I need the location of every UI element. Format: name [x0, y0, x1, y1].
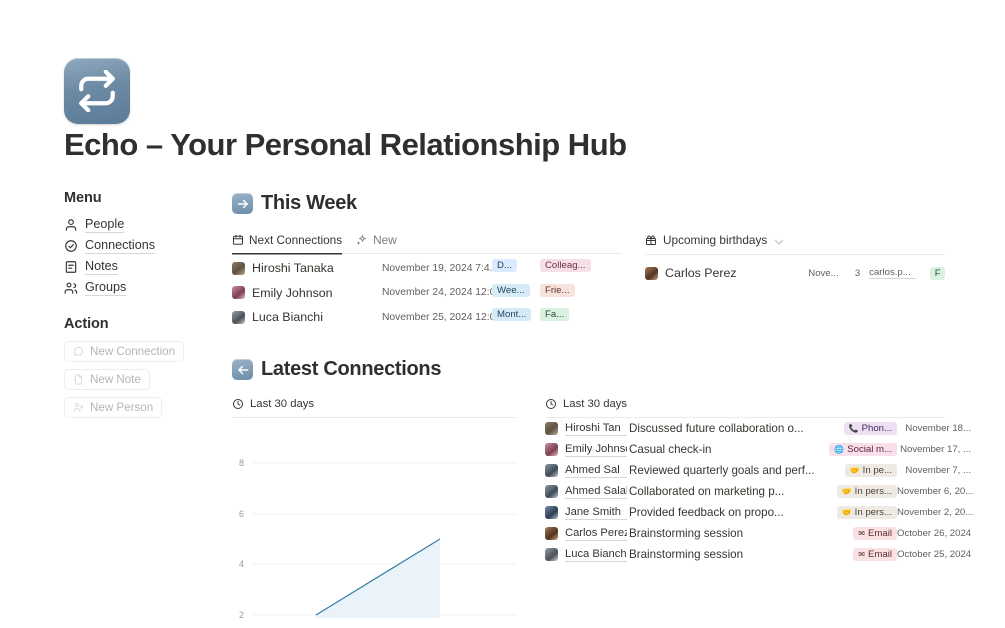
this-week-section: This Week Next Connections	[232, 192, 622, 328]
person-name: Carlos Perez	[565, 526, 627, 541]
menu-heading: Menu	[64, 190, 224, 206]
y-tick-8: 8	[239, 458, 244, 468]
latest-title-row: Latest Connections	[232, 358, 441, 381]
new-person-label: New Person	[90, 401, 153, 414]
relation-badge: Frie...	[540, 284, 575, 297]
badge-label: In pe...	[863, 464, 892, 477]
arrow-right-square-icon	[232, 193, 253, 214]
connection-description: Discussed future collaboration o...	[629, 422, 815, 435]
app-root: Echo – Your Personal Relationship Hub Me…	[0, 0, 1005, 628]
y-tick-4: 4	[239, 559, 244, 569]
globe-icon: 🌐	[834, 446, 844, 454]
connection-description: Brainstorming session	[629, 527, 815, 540]
person-plus-icon	[73, 402, 84, 413]
new-note-button[interactable]: New Note	[64, 369, 150, 390]
person-name: Luca Bianchi	[252, 310, 382, 324]
person-name: Emily Johnson	[252, 286, 382, 300]
tab-label: New	[373, 233, 397, 247]
calendar-icon	[232, 234, 244, 246]
connection-description: Collaborated on marketing p...	[629, 485, 815, 498]
new-connection-label: New Connection	[90, 345, 175, 358]
avatar	[545, 527, 558, 540]
handshake-icon: 🤝	[842, 509, 852, 517]
badge-label: Email	[868, 527, 892, 540]
new-person-button[interactable]: New Person	[64, 397, 162, 418]
y-tick-6: 6	[239, 509, 244, 519]
connection-description: Reviewed quarterly goals and perf...	[629, 464, 815, 477]
tag-cell: 🤝 In pers...	[815, 485, 897, 498]
chevron-down-icon[interactable]	[773, 236, 782, 245]
y-tick-2: 2	[239, 610, 244, 618]
connection-description: Casual check-in	[629, 443, 815, 456]
list-item[interactable]: Jane Smith Provided feedback on propo...…	[545, 502, 945, 523]
tag-cell: Mont...	[492, 308, 526, 326]
phone-icon: 📞	[849, 425, 859, 433]
tag-cell: 📞 Phon...	[815, 422, 897, 435]
clock-icon	[545, 398, 557, 410]
this-week-title: This Week	[261, 192, 357, 215]
avatar	[545, 548, 558, 561]
connection-type-badge: 🤝 In pers...	[837, 506, 897, 519]
birthdays-section: Upcoming birthdays Carlos Perez Nove... …	[645, 233, 945, 283]
connection-date: November 7, ...	[897, 465, 971, 476]
list-item[interactable]: Emily Johnso Casual check-in 🌐 Social m.…	[545, 439, 945, 460]
chart-range-text: Last 30 days	[250, 398, 314, 410]
birthday-count: 3	[846, 268, 869, 279]
tag-cell: D...	[492, 259, 526, 277]
envelope-icon: ✉	[858, 551, 865, 559]
action-heading: Action	[64, 316, 224, 332]
connection-date: October 25, 2024	[897, 549, 971, 560]
connection-date: October 26, 2024	[897, 528, 971, 539]
avatar	[545, 506, 558, 519]
list-item[interactable]: Hiroshi Tan Discussed future collaborati…	[545, 418, 945, 439]
sidebar-item-label: Notes	[85, 259, 118, 275]
connection-date: November 18...	[897, 423, 971, 434]
badge-label: In pers...	[855, 506, 892, 519]
sidebar-item-people[interactable]: People	[64, 214, 224, 235]
clock-icon	[232, 398, 244, 410]
badge-label: Phon...	[862, 422, 892, 435]
this-week-tabs: Next Connections New	[232, 233, 622, 254]
avatar	[545, 443, 558, 456]
table-row[interactable]: Carlos Perez Nove... 3 carlos.p... F	[645, 263, 945, 283]
badge-label: Social m...	[847, 443, 892, 456]
sidebar-item-notes[interactable]: Notes	[64, 256, 224, 277]
birthdays-header[interactable]: Upcoming birthdays	[645, 233, 945, 255]
latest-title: Latest Connections	[261, 358, 441, 381]
sparkle-icon	[356, 234, 368, 246]
note-icon	[64, 260, 78, 274]
person-name: Ahmed Sal	[565, 463, 627, 478]
avatar	[545, 464, 558, 477]
list-item[interactable]: Luca Bianchi Brainstorming session ✉ Ema…	[545, 544, 945, 565]
person-name: Ahmed Salah	[565, 484, 627, 499]
badge-label: In pers...	[855, 485, 892, 498]
connection-date: November 6, 20...	[897, 486, 971, 497]
status-badge: Mont...	[492, 308, 531, 321]
page-title: Echo – Your Personal Relationship Hub	[64, 126, 627, 164]
tag-cell: 🌐 Social m...	[815, 443, 897, 456]
group-icon	[64, 281, 78, 295]
comment-icon	[73, 346, 84, 357]
connection-date: November 2, 20...	[897, 507, 971, 518]
list-range-label: Last 30 days	[545, 398, 945, 418]
person-name: Luca Bianchi	[565, 547, 627, 562]
tag-cell: 🤝 In pe...	[815, 464, 897, 477]
birthdays-heading: Upcoming birthdays	[663, 233, 767, 247]
email-value: carlos.p...	[869, 267, 916, 279]
connection-type-badge: ✉ Email	[853, 548, 897, 561]
avatar	[645, 267, 658, 280]
sidebar-item-label: Groups	[85, 280, 126, 296]
tab-new[interactable]: New	[356, 233, 397, 253]
gift-icon	[645, 234, 657, 246]
person-icon	[64, 218, 78, 232]
tab-next-connections[interactable]: Next Connections	[232, 233, 342, 253]
this-week-title-row: This Week	[232, 192, 622, 215]
recent-connections-list: Last 30 days Hiroshi Tan Discussed futur…	[545, 398, 945, 565]
arrow-left-square-icon	[232, 359, 253, 380]
person-name: Hiroshi Tan	[565, 421, 627, 436]
table-row[interactable]: Hiroshi Tanaka November 19, 2024 7:4... …	[232, 258, 622, 279]
connection-type-badge: ✉ Email	[853, 527, 897, 540]
tag-cell: ✉ Email	[815, 548, 897, 561]
tag-cell: Frie...	[540, 284, 588, 302]
new-connection-button[interactable]: New Connection	[64, 341, 184, 362]
badge-label: Email	[868, 548, 892, 561]
tag-cell: Wee...	[492, 284, 526, 302]
repeat-icon	[64, 58, 130, 124]
sidebar-item-connections[interactable]: Connections	[64, 235, 224, 256]
list-item[interactable]: Ahmed Sal Reviewed quarterly goals and p…	[545, 460, 945, 481]
tag-cell: Colleag...	[540, 259, 588, 277]
connection-date: November 25, 2024 12:0...	[382, 312, 492, 323]
avatar	[232, 262, 245, 275]
connection-type-badge: 🤝 In pers...	[837, 485, 897, 498]
check-circle-icon	[64, 239, 78, 253]
avatar	[545, 422, 558, 435]
file-icon	[73, 374, 84, 385]
list-range-text: Last 30 days	[563, 398, 627, 410]
status-badge: Wee...	[492, 284, 530, 297]
person-name: Emily Johnso	[565, 442, 627, 457]
table-row[interactable]: Luca Bianchi November 25, 2024 12:0... M…	[232, 307, 622, 328]
new-note-label: New Note	[90, 373, 141, 386]
person-name: Carlos Perez	[665, 266, 808, 280]
handshake-icon: 🤝	[842, 488, 852, 496]
connections-chart-panel: Last 30 days 8 6 4 2	[232, 398, 517, 618]
status-badge: F	[930, 267, 945, 280]
connection-type-badge: 📞 Phon...	[844, 422, 897, 435]
sidebar-item-label: People	[85, 217, 124, 233]
list-item[interactable]: Ahmed Salah Collaborated on marketing p.…	[545, 481, 945, 502]
connection-date: November 19, 2024 7:4...	[382, 263, 492, 274]
list-item[interactable]: Carlos Perez Brainstorming session ✉ Ema…	[545, 523, 945, 544]
person-name: Jane Smith	[565, 505, 627, 520]
chart-range-label: Last 30 days	[232, 398, 517, 418]
connection-type-badge: 🤝 In pe...	[845, 464, 897, 477]
connection-date: November 24, 2024 12:0...	[382, 287, 492, 298]
avatar	[545, 485, 558, 498]
sidebar-item-label: Connections	[85, 238, 155, 254]
status-badge: D...	[492, 259, 517, 272]
sidebar: Menu People Connections	[64, 190, 224, 425]
latest-connections-section: Latest Connections	[232, 358, 441, 381]
tag-cell: Fa...	[540, 308, 588, 326]
sidebar-item-groups[interactable]: Groups	[64, 277, 224, 298]
tag-cell: 🤝 In pers...	[815, 506, 897, 519]
connection-description: Brainstorming session	[629, 548, 815, 561]
connection-date: November 17, ...	[897, 444, 971, 455]
relation-badge: Fa...	[540, 308, 569, 321]
tab-label: Next Connections	[249, 233, 342, 247]
avatar	[232, 311, 245, 324]
table-row[interactable]: Emily Johnson November 24, 2024 12:0... …	[232, 283, 622, 304]
birthday-date: Nove...	[808, 268, 846, 279]
envelope-icon: ✉	[858, 530, 865, 538]
connection-description: Provided feedback on propo...	[629, 506, 815, 519]
tag-cell: ✉ Email	[815, 527, 897, 540]
connection-type-badge: 🌐 Social m...	[829, 443, 897, 456]
relation-badge: Colleag...	[540, 259, 591, 272]
person-name: Hiroshi Tanaka	[252, 261, 382, 275]
area-chart: 8 6 4 2	[232, 418, 517, 618]
avatar	[232, 286, 245, 299]
handshake-icon: 🤝	[850, 467, 860, 475]
